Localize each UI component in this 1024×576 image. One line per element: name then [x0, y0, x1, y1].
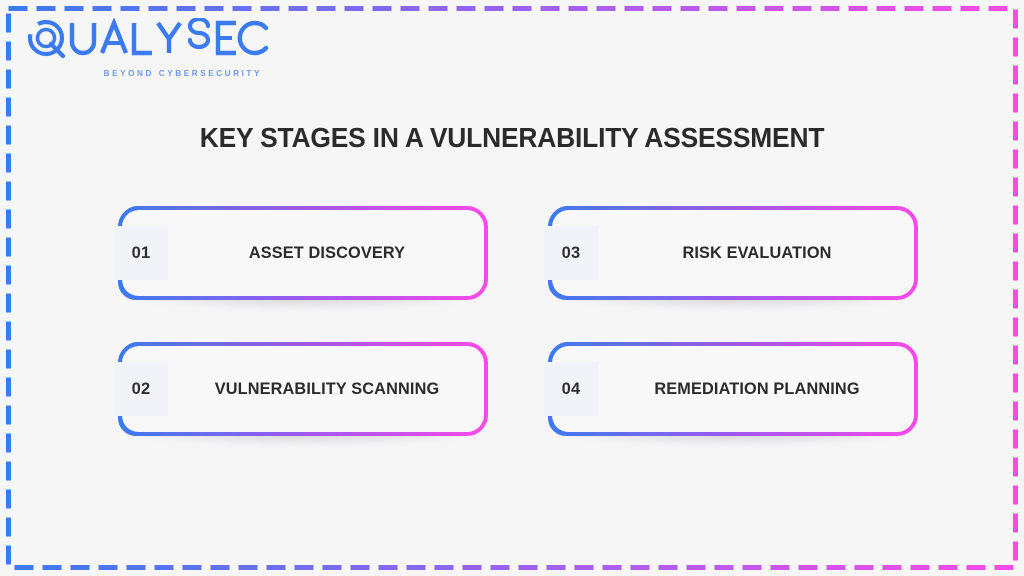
card-number-badge: 03 [544, 226, 598, 280]
card-label: RISK EVALUATION [606, 206, 908, 300]
stage-card-02[interactable]: 02 VULNERABILITY SCANNING [118, 342, 488, 436]
qualysec-wordmark-icon [22, 18, 272, 62]
stages-grid: 01 ASSET DISCOVERY 03 RISK EVALUATION [118, 206, 918, 446]
stage-card-01[interactable]: 01 ASSET DISCOVERY [118, 206, 488, 300]
card-number-badge: 01 [114, 226, 168, 280]
page-title: KEY STAGES IN A VULNERABILITY ASSESSMENT [20, 122, 1003, 154]
card-number-badge: 02 [114, 362, 168, 416]
brand-logo[interactable]: BEYOND CYBERSECURITY [22, 18, 282, 78]
stage-card-04[interactable]: 04 REMEDIATION PLANNING [548, 342, 918, 436]
card-label: VULNERABILITY SCANNING [176, 342, 478, 436]
card-label: REMEDIATION PLANNING [606, 342, 908, 436]
card-number-badge: 04 [544, 362, 598, 416]
logo-tagline: BEYOND CYBERSECURITY [22, 69, 282, 78]
card-label: ASSET DISCOVERY [176, 206, 478, 300]
stage-card-03[interactable]: 03 RISK EVALUATION [548, 206, 918, 300]
logo-wordmark [22, 18, 282, 67]
